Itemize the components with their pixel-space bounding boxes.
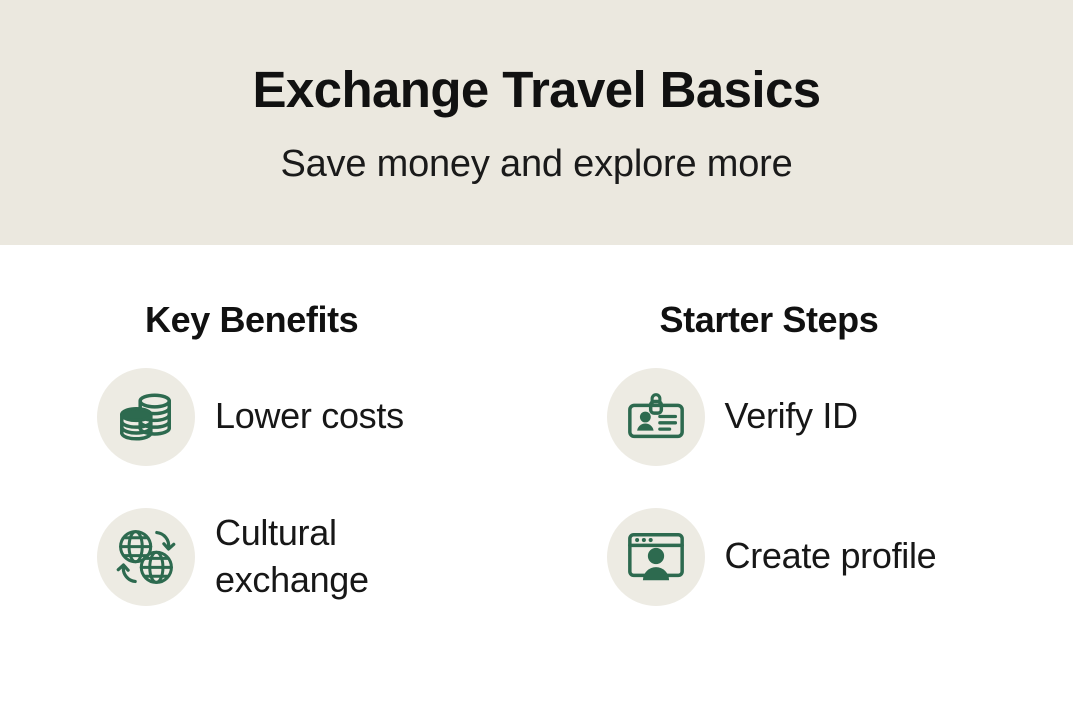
list-item-label: Verify ID [725, 393, 858, 440]
browser-profile-icon [607, 508, 705, 606]
page-title: Exchange Travel Basics [253, 62, 821, 118]
content-area: Key Benefits [0, 245, 1073, 720]
infographic-card: Exchange Travel Basics Save money and ex… [0, 0, 1073, 720]
column-title-key-benefits: Key Benefits [97, 300, 537, 340]
list-item[interactable]: Create profile [607, 508, 1073, 606]
list-item-label: Cultural exchange [215, 510, 369, 604]
column-title-starter-steps: Starter Steps [607, 300, 1073, 340]
list-item[interactable]: Cultural exchange [97, 508, 537, 606]
column-starter-steps: Starter Steps [537, 300, 1073, 606]
list-item-label: Create profile [725, 533, 937, 580]
globes-exchange-icon [97, 508, 195, 606]
list-item[interactable]: Lower costs [97, 368, 537, 466]
header-band: Exchange Travel Basics Save money and ex… [0, 0, 1073, 245]
page-subtitle: Save money and explore more [280, 144, 792, 186]
id-badge-icon [607, 368, 705, 466]
coins-stack-icon [97, 368, 195, 466]
columns-wrapper: Key Benefits [0, 300, 1073, 606]
list-item[interactable]: Verify ID [607, 368, 1073, 466]
column-key-benefits: Key Benefits [0, 300, 537, 606]
list-item-label: Lower costs [215, 393, 404, 440]
